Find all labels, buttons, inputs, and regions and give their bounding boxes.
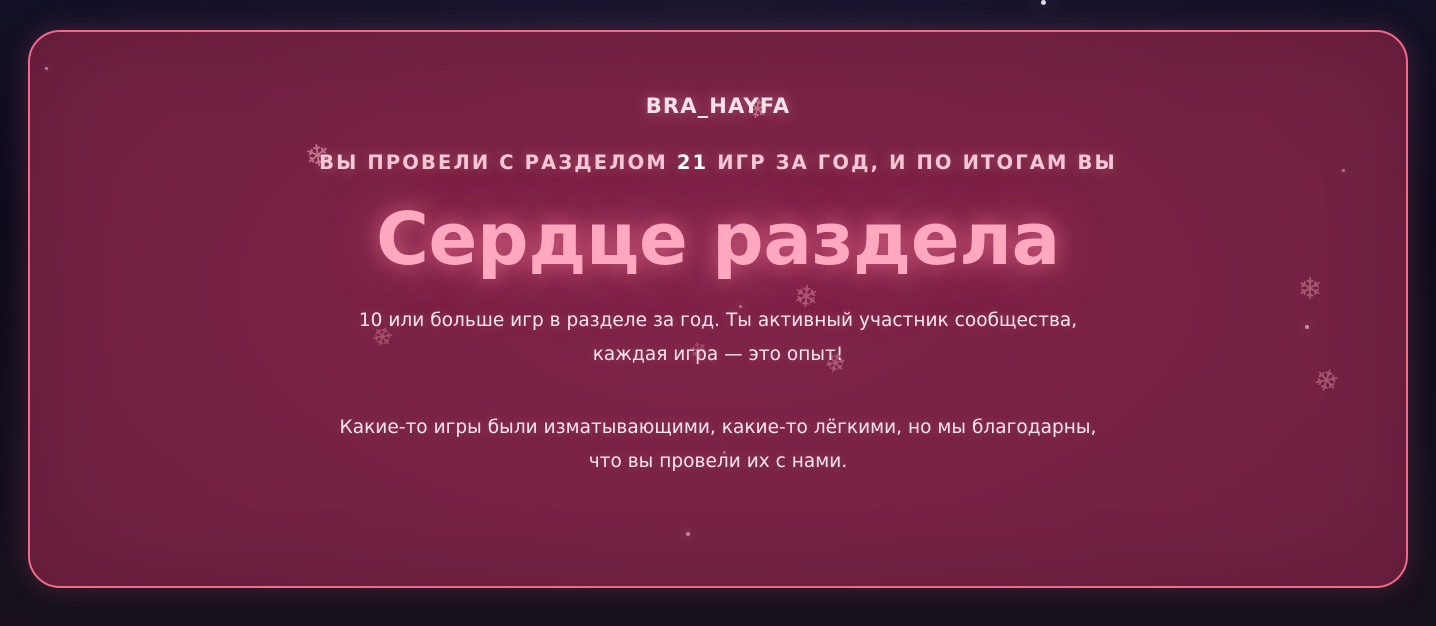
description-paragraph-1: 10 или больше игр в разделе за год. Ты а… <box>359 304 1077 372</box>
description-line: 10 или больше игр в разделе за год. Ты а… <box>359 304 1077 338</box>
achievement-card: ❄❄❄❄❄❄❄❄ BRA_HAYFA ВЫ ПРОВЕЛИ С РАЗДЕЛОМ… <box>28 30 1408 588</box>
snowflake-right-lower-icon: ❄ <box>1309 364 1342 400</box>
spark-right-upper-icon <box>1342 169 1345 172</box>
bg-spark-top-icon <box>1041 0 1046 5</box>
description-line: что вы провели их с нами. <box>340 445 1097 479</box>
subtitle-after: ИГР ЗА ГОД, И ПО ИТОГАМ ВЫ <box>717 151 1117 174</box>
games-count: 21 <box>677 151 708 174</box>
spark-card-topleft-icon <box>45 67 48 70</box>
description-line: каждая игра — это опыт! <box>359 338 1077 372</box>
user-nickname: BRA_HAYFA <box>646 94 791 118</box>
description-paragraph-2: Какие-то игры были изматывающими, какие-… <box>340 411 1097 479</box>
spark-bottom-center-icon <box>686 532 690 536</box>
subtitle-before: ВЫ ПРОВЕЛИ С РАЗДЕЛОМ <box>319 151 668 174</box>
snowflake-right-upper-icon: ❄ <box>1297 275 1322 305</box>
spark-right-mid-icon <box>1305 325 1309 329</box>
description-line: Какие-то игры были изматывающими, какие-… <box>340 411 1097 445</box>
page-background: ❄❄❄❄❄❄❄❄ BRA_HAYFA ВЫ ПРОВЕЛИ С РАЗДЕЛОМ… <box>0 0 1436 626</box>
summary-subtitle: ВЫ ПРОВЕЛИ С РАЗДЕЛОМ 21 ИГР ЗА ГОД, И П… <box>319 151 1117 174</box>
achievement-title: Сердце раздела <box>376 202 1060 278</box>
